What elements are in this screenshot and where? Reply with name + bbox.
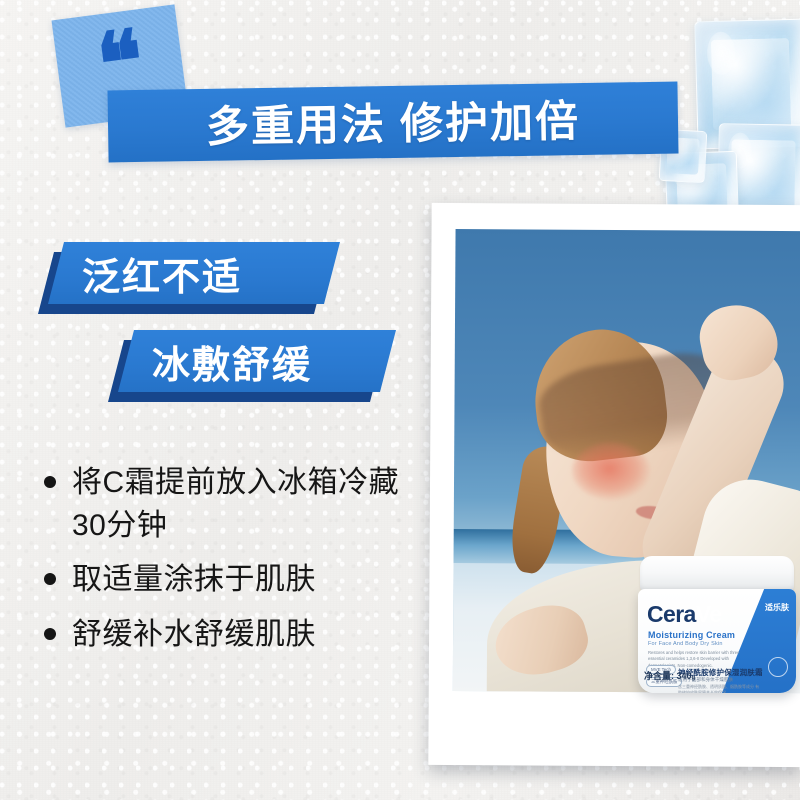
product-subtitle-2: For Face And Body Dry Skin <box>648 641 723 647</box>
brand-ve: Ve <box>696 601 722 627</box>
net-weight-value: 340 <box>677 671 692 681</box>
list-item: 舒缓补水舒缓肌肤 <box>44 614 424 657</box>
tag-label-2: 冰敷舒缓 <box>152 334 312 389</box>
jar-lid <box>640 556 794 592</box>
bullet-text-1: 将C霜提前放入冰箱冷藏30分钟 <box>72 462 424 547</box>
product-jar: CeraVe 适乐肤 Moisturizing Cream For Face A… <box>638 556 796 702</box>
tag-redness: 泛红不适 <box>48 242 340 304</box>
bullet-text-2: 取适量涂抹于肌肤 <box>72 559 316 602</box>
bullet-dot-icon <box>44 628 56 640</box>
net-weight: 净含量: 340g <box>644 669 695 682</box>
product-subtitle: Moisturizing Cream <box>648 630 735 640</box>
poster-canvas: ❝ 多重用法 修护加倍 泛红不适 冰敷舒缓 将C霜提前放入冰箱冷藏30分钟 取适… <box>0 0 800 800</box>
bullet-dot-icon <box>44 476 56 488</box>
headline-text: 多重用法 修护加倍 <box>108 85 679 156</box>
brand-name-cn: 适乐肤 <box>765 604 789 612</box>
brand-cera: Cera <box>647 601 696 627</box>
jar-ring-decoration <box>768 657 788 677</box>
list-item: 取适量涂抹于肌肤 <box>44 559 424 602</box>
bullet-text-3: 舒缓补水舒缓肌肤 <box>72 614 316 657</box>
product-blurb-cn: 含三重神经酰胺、透明质酸、烟酰胺等成分 有助修护皮肤屏障并长效保湿 <box>678 684 760 693</box>
tag-label-1: 泛红不适 <box>82 246 242 301</box>
list-item: 将C霜提前放入冰箱冷藏30分钟 <box>44 462 424 547</box>
bullet-dot-icon <box>44 573 56 585</box>
tag-cold-compress: 冰敷舒缓 <box>118 330 396 392</box>
brand-logo: CeraVe <box>647 603 721 626</box>
jar-body: CeraVe 适乐肤 Moisturizing Cream For Face A… <box>638 589 796 693</box>
net-weight-label: 净含量: <box>644 671 674 681</box>
net-weight-unit: g <box>692 675 696 681</box>
instruction-list: 将C霜提前放入冰箱冷藏30分钟 取适量涂抹于肌肤 舒缓补水舒缓肌肤 <box>44 462 424 668</box>
headline-banner: 多重用法 修护加倍 <box>107 82 678 163</box>
